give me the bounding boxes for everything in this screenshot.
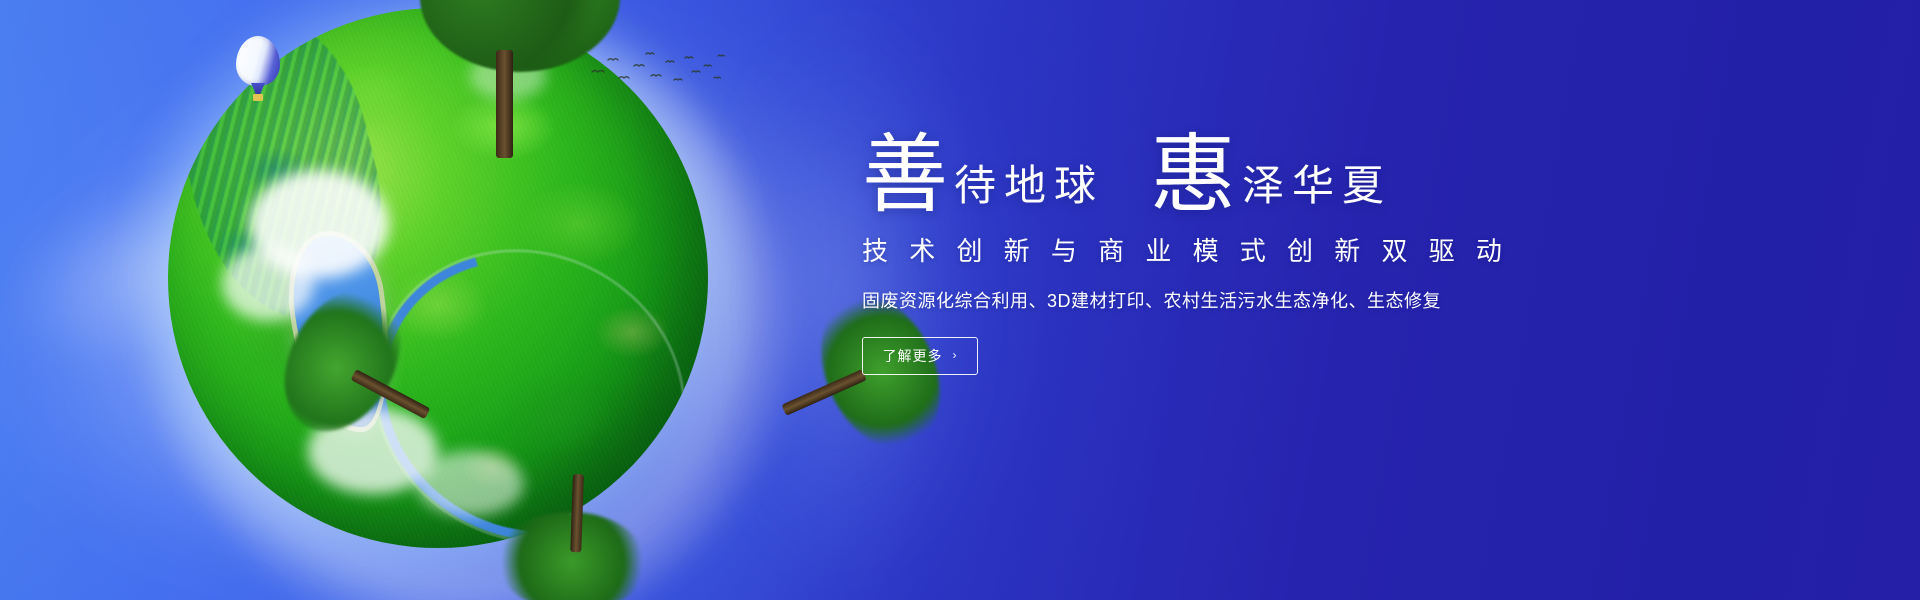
tagline: 固废资源化综合利用、3D建材打印、农村生活污水生态净化、生态修复 bbox=[862, 287, 1562, 313]
hero-copy: 善 待地球 惠 泽华夏 技 术 创 新 与 商 业 模 式 创 新 双 驱 动 … bbox=[862, 132, 1562, 375]
chevron-right-icon: › bbox=[953, 348, 958, 362]
tree-trunk bbox=[496, 50, 513, 158]
balloon-envelope bbox=[236, 36, 280, 86]
balloon-basket bbox=[253, 94, 263, 101]
headline-big-2: 惠 bbox=[1150, 136, 1236, 215]
tree-bottom bbox=[496, 457, 651, 600]
balloon-skirt bbox=[251, 83, 265, 94]
headline: 善 待地球 惠 泽华夏 bbox=[862, 132, 1562, 211]
learn-more-button[interactable]: 了解更多 › bbox=[862, 337, 978, 375]
headline-small-2: 泽华夏 bbox=[1242, 166, 1392, 208]
birds-icon bbox=[588, 46, 728, 94]
learn-more-label: 了解更多 bbox=[883, 346, 943, 366]
globe-cloud-2 bbox=[222, 246, 314, 322]
subtitle: 技 术 创 新 与 商 业 模 式 创 新 双 驱 动 bbox=[862, 231, 1562, 268]
hot-air-balloon-icon bbox=[236, 36, 280, 106]
headline-big-1: 善 bbox=[862, 136, 948, 215]
headline-small-1: 待地球 bbox=[954, 166, 1104, 208]
hero-banner: 善 待地球 惠 泽华夏 技 术 创 新 与 商 业 模 式 创 新 双 驱 动 … bbox=[0, 0, 1920, 600]
